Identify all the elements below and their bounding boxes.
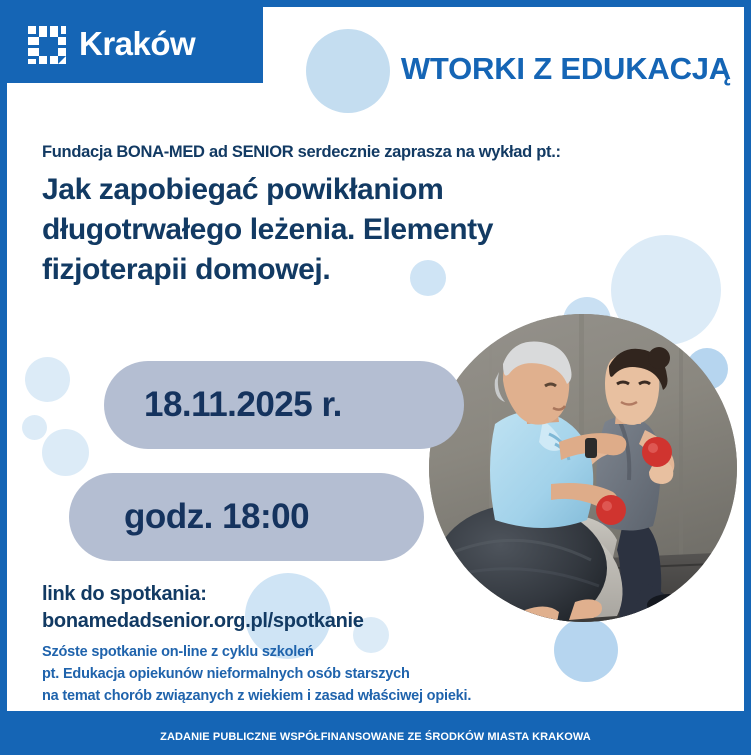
description-note: Szóste spotkanie on-line z cyklu szkoleń… — [42, 641, 471, 707]
photo-illustration — [429, 314, 737, 622]
lecture-title: Jak zapobiegać powikłaniom długotrwałego… — [42, 170, 602, 290]
note-line-1: Szóste spotkanie on-line z cyklu szkoleń — [42, 641, 471, 663]
note-line-2: pt. Edukacja opiekunów nieformalnych osó… — [42, 663, 471, 685]
series-title: WTORKI Z EDUKACJĄ — [341, 51, 731, 87]
footer-bar: ZADANIE PUBLICZNE WSPÓŁFINANSOWANE ZE ŚR… — [0, 718, 751, 755]
brand-name: Kraków — [79, 27, 195, 63]
meeting-link-url[interactable]: bonamedadsenior.org.pl/spotkanie — [42, 608, 364, 635]
decor-circle-left-lower — [42, 429, 89, 476]
decor-circle-left-upper — [25, 357, 70, 402]
event-time-badge: godz. 18:00 — [69, 473, 424, 561]
meeting-link-block: link do spotkania: bonamedadsenior.org.p… — [42, 581, 364, 635]
intro-line: Fundacja BONA-MED ad SENIOR serdecznie z… — [42, 143, 561, 162]
brand-bar: Kraków — [7, 7, 263, 83]
poster-root: Kraków WTORKI Z EDUKACJĄ Fundacja BONA-M… — [0, 0, 751, 755]
event-date: 18.11.2025 r. — [144, 385, 342, 425]
footer-text: ZADANIE PUBLICZNE WSPÓŁFINANSOWANE ZE ŚR… — [160, 731, 591, 743]
poster-canvas: Kraków WTORKI Z EDUKACJĄ Fundacja BONA-M… — [7, 7, 744, 711]
decor-circle-left-tiny — [22, 415, 47, 440]
senior-physiotherapy-photo — [429, 314, 737, 622]
event-time: godz. 18:00 — [124, 497, 309, 537]
krakow-logo-icon — [28, 26, 66, 64]
event-date-badge: 18.11.2025 r. — [104, 361, 464, 449]
meeting-link-label: link do spotkania: — [42, 581, 364, 608]
note-line-3: na temat chorób związanych z wiekiem i z… — [42, 685, 471, 707]
decor-circle-mid-right — [554, 618, 618, 682]
